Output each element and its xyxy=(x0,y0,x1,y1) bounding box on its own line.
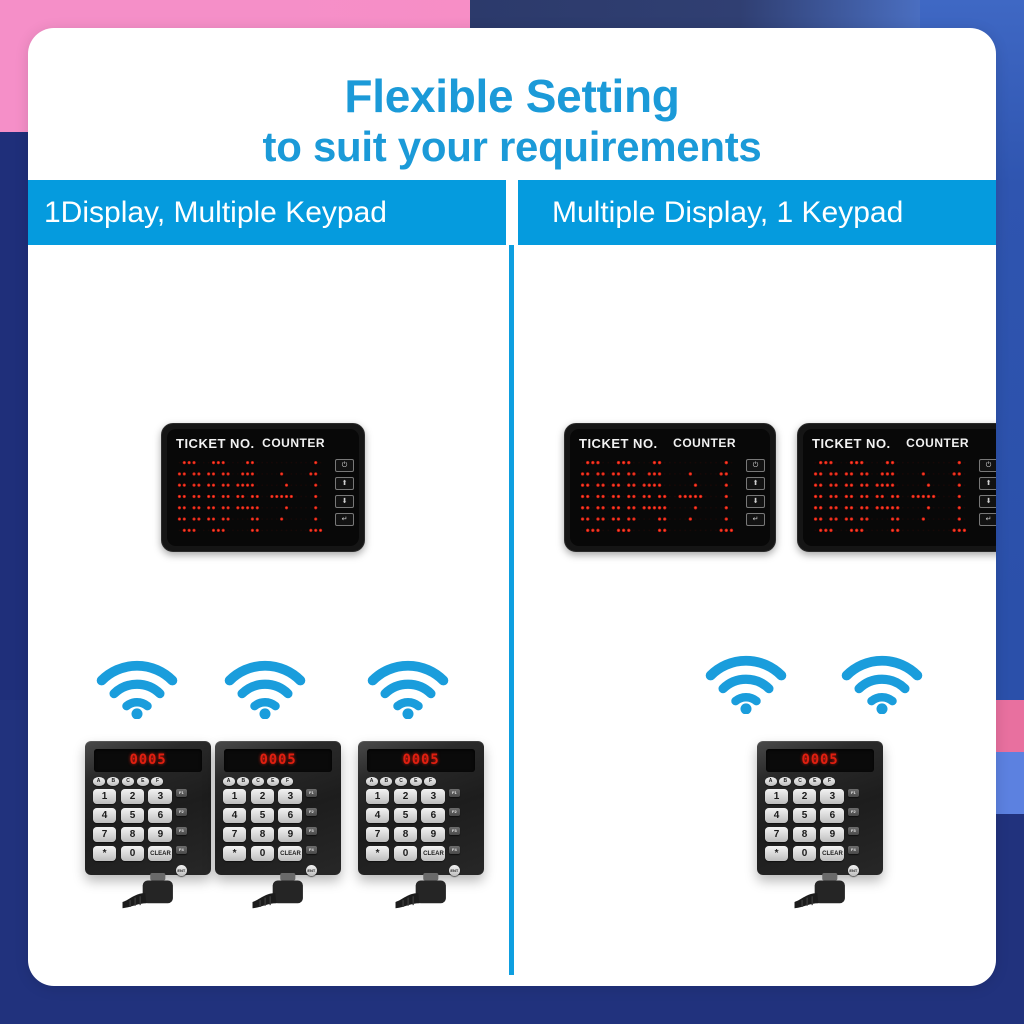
keypad-number-pad: 123456789*0CLEAR xyxy=(765,789,845,876)
key-3[interactable]: 3 xyxy=(421,789,445,805)
keypad-led-screen: 0005 xyxy=(224,749,332,772)
down-icon[interactable]: ⬇ xyxy=(979,495,996,508)
keypad-body: 0005ABCEF123456789*0CLEARF1F2F3F4ENT xyxy=(358,741,484,875)
key-f2[interactable]: F2 xyxy=(306,808,317,816)
key-f4[interactable]: F4 xyxy=(176,846,187,854)
key-7[interactable]: 7 xyxy=(366,827,390,843)
keypad-number-pad: 123456789*0CLEAR xyxy=(93,789,173,876)
key-clear[interactable]: CLEAR xyxy=(148,846,172,862)
keypad-unit: 0005ABCEF123456789*0CLEARF1F2F3F4ENT xyxy=(757,741,883,912)
enter-icon[interactable]: ↵ xyxy=(746,513,765,526)
page-title: Flexible Setting to suit your requiremen… xyxy=(28,28,996,169)
key-b[interactable]: B xyxy=(107,777,119,786)
ticket-no-label: TICKET NO. xyxy=(812,436,891,451)
key-1[interactable]: 1 xyxy=(93,789,117,805)
key-6[interactable]: 6 xyxy=(148,808,172,824)
key-c[interactable]: C xyxy=(395,777,407,786)
title-line-2: to suit your requirements xyxy=(28,125,996,170)
ticket-no-label: TICKET NO. xyxy=(176,436,255,451)
keypad-unit: 0005ABCEF123456789*0CLEARF1F2F3F4ENT xyxy=(215,741,341,912)
display-labels: TICKET NO.COUNTER xyxy=(167,434,359,452)
key-2[interactable]: 2 xyxy=(121,789,145,805)
key-1[interactable]: 1 xyxy=(765,789,789,805)
keypad-row: 456 xyxy=(93,808,173,824)
keypad-letter-row: ABCEF xyxy=(765,777,878,786)
key-8[interactable]: 8 xyxy=(394,827,418,843)
key-f4[interactable]: F4 xyxy=(306,846,317,854)
content-card: Flexible Setting to suit your requiremen… xyxy=(28,28,996,986)
keypad-main-grid: 123456789*0CLEARF1F2F3F4ENT xyxy=(765,789,878,876)
key-5[interactable]: 5 xyxy=(121,808,145,824)
key-2[interactable]: 2 xyxy=(394,789,418,805)
key-star[interactable]: * xyxy=(765,846,789,862)
key-4[interactable]: 4 xyxy=(223,808,247,824)
led-matrix-canvas xyxy=(813,457,967,536)
keypad-unit: 0005ABCEF123456789*0CLEARF1F2F3F4ENT xyxy=(358,741,484,912)
display-screen: TICKET NO.COUNTER⏻⬆⬇↵ xyxy=(167,429,359,546)
key-1[interactable]: 1 xyxy=(366,789,390,805)
key-0[interactable]: 0 xyxy=(793,846,817,862)
key-a[interactable]: A xyxy=(223,777,235,786)
power-icon[interactable]: ⏻ xyxy=(746,459,765,472)
key-f[interactable]: F xyxy=(424,777,436,786)
keypad-row: 123 xyxy=(93,789,173,805)
keypad-unit: 0005ABCEF123456789*0CLEARF1F2F3F4ENT xyxy=(85,741,211,912)
keypad-main-grid: 123456789*0CLEARF1F2F3F4ENT xyxy=(223,789,336,876)
keypad-letter-row: ABCEF xyxy=(223,777,336,786)
keypad-letter-row: ABCEF xyxy=(366,777,479,786)
key-a[interactable]: A xyxy=(765,777,777,786)
keypad-led-screen: 0005 xyxy=(766,749,874,772)
keypad-main-grid: 123456789*0CLEARF1F2F3F4ENT xyxy=(93,789,206,876)
power-icon[interactable]: ⏻ xyxy=(979,459,996,472)
keypad-row: 123 xyxy=(366,789,446,805)
key-8[interactable]: 8 xyxy=(121,827,145,843)
key-4[interactable]: 4 xyxy=(93,808,117,824)
key-3[interactable]: 3 xyxy=(820,789,844,805)
key-6[interactable]: 6 xyxy=(421,808,445,824)
section-header-right: Multiple Display, 1 Keypad xyxy=(518,180,996,245)
key-clear[interactable]: CLEAR xyxy=(278,846,302,862)
ticket-no-label: TICKET NO. xyxy=(579,436,658,451)
key-6[interactable]: 6 xyxy=(278,808,302,824)
key-f3[interactable]: F3 xyxy=(449,827,460,835)
key-e[interactable]: E xyxy=(267,777,279,786)
section-header-left: 1Display, Multiple Keypad xyxy=(28,180,506,245)
key-e[interactable]: E xyxy=(809,777,821,786)
key-5[interactable]: 5 xyxy=(251,808,275,824)
display-labels: TICKET NO.COUNTER xyxy=(803,434,996,452)
key-2[interactable]: 2 xyxy=(251,789,275,805)
key-c[interactable]: C xyxy=(794,777,806,786)
key-9[interactable]: 9 xyxy=(421,827,445,843)
keypad-row: 123 xyxy=(223,789,303,805)
key-5[interactable]: 5 xyxy=(793,808,817,824)
key-5[interactable]: 5 xyxy=(394,808,418,824)
key-7[interactable]: 7 xyxy=(765,827,789,843)
key-f[interactable]: F xyxy=(281,777,293,786)
keypad-body: 0005ABCEF123456789*0CLEARF1F2F3F4ENT xyxy=(85,741,211,875)
key-3[interactable]: 3 xyxy=(148,789,172,805)
keypad-led-value: 0005 xyxy=(129,752,166,768)
key-f[interactable]: F xyxy=(823,777,835,786)
enter-icon[interactable]: ↵ xyxy=(335,513,354,526)
keypad-led-screen: 0005 xyxy=(367,749,475,772)
key-f1[interactable]: F1 xyxy=(449,789,460,797)
display-side-buttons: ⏻⬆⬇↵ xyxy=(746,459,765,526)
ticket-display-unit: TICKET NO.COUNTER⏻⬆⬇↵ xyxy=(161,423,365,552)
power-cable xyxy=(250,873,328,916)
up-icon[interactable]: ⬆ xyxy=(979,477,996,490)
keypad-letter-row: ABCEF xyxy=(93,777,206,786)
key-9[interactable]: 9 xyxy=(278,827,302,843)
wifi-icon xyxy=(366,653,450,719)
key-f1[interactable]: F1 xyxy=(306,789,317,797)
key-f3[interactable]: F3 xyxy=(848,827,859,835)
key-a[interactable]: A xyxy=(93,777,105,786)
keypad-keys: ABCEF123456789*0CLEARF1F2F3F4ENT xyxy=(765,777,878,868)
key-f2[interactable]: F2 xyxy=(848,808,859,816)
key-c[interactable]: C xyxy=(122,777,134,786)
key-f4[interactable]: F4 xyxy=(848,846,859,854)
keypad-number-pad: 123456789*0CLEAR xyxy=(366,789,446,876)
key-e[interactable]: E xyxy=(137,777,149,786)
key-f[interactable]: F xyxy=(151,777,163,786)
keypad-row: 789 xyxy=(223,827,303,843)
led-matrix-readout xyxy=(813,457,967,536)
led-matrix-canvas xyxy=(580,457,734,536)
keypad-row: *0CLEAR xyxy=(366,846,446,862)
keypad-function-column: F1F2F3F4ENT xyxy=(306,789,317,876)
power-cable xyxy=(792,873,870,916)
key-clear[interactable]: CLEAR xyxy=(820,846,844,862)
keypad-keys: ABCEF123456789*0CLEARF1F2F3F4ENT xyxy=(223,777,336,868)
key-4[interactable]: 4 xyxy=(366,808,390,824)
key-f1[interactable]: F1 xyxy=(848,789,859,797)
key-7[interactable]: 7 xyxy=(93,827,117,843)
key-star[interactable]: * xyxy=(223,846,247,862)
led-matrix-readout xyxy=(177,457,323,536)
down-icon[interactable]: ⬇ xyxy=(746,495,765,508)
wifi-icon xyxy=(223,653,307,719)
display-side-buttons: ⏻⬆⬇↵ xyxy=(335,459,354,526)
counter-label: COUNTER xyxy=(262,436,325,450)
key-f2[interactable]: F2 xyxy=(176,808,187,816)
ticket-display-unit: TICKET NO.COUNTER⏻⬆⬇↵ xyxy=(564,423,776,552)
key-c[interactable]: C xyxy=(252,777,264,786)
display-screen: TICKET NO.COUNTER⏻⬆⬇↵ xyxy=(570,429,770,546)
key-8[interactable]: 8 xyxy=(251,827,275,843)
keypad-row: *0CLEAR xyxy=(223,846,303,862)
title-line-1: Flexible Setting xyxy=(28,72,996,121)
counter-label: COUNTER xyxy=(906,436,969,450)
key-0[interactable]: 0 xyxy=(251,846,275,862)
keypad-led-value: 0005 xyxy=(259,752,296,768)
key-clear[interactable]: CLEAR xyxy=(421,846,445,862)
keypad-body: 0005ABCEF123456789*0CLEARF1F2F3F4ENT xyxy=(215,741,341,875)
keypad-row: 789 xyxy=(366,827,446,843)
ticket-display-unit: TICKET NO.COUNTER⏻⬆⬇↵ xyxy=(797,423,996,552)
key-0[interactable]: 0 xyxy=(394,846,418,862)
key-3[interactable]: 3 xyxy=(278,789,302,805)
keypad-function-column: F1F2F3F4ENT xyxy=(848,789,859,876)
keypad-keys: ABCEF123456789*0CLEARF1F2F3F4ENT xyxy=(93,777,206,868)
power-cable xyxy=(393,873,471,916)
display-side-buttons: ⏻⬆⬇↵ xyxy=(979,459,996,526)
key-6[interactable]: 6 xyxy=(820,808,844,824)
display-screen: TICKET NO.COUNTER⏻⬆⬇↵ xyxy=(803,429,996,546)
keypad-row: *0CLEAR xyxy=(765,846,845,862)
keypad-row: 456 xyxy=(765,808,845,824)
keypad-led-value: 0005 xyxy=(801,752,838,768)
keypad-led-screen: 0005 xyxy=(94,749,202,772)
counter-label: COUNTER xyxy=(673,436,736,450)
wifi-icon xyxy=(840,648,924,714)
key-7[interactable]: 7 xyxy=(223,827,247,843)
key-9[interactable]: 9 xyxy=(820,827,844,843)
keypad-led-value: 0005 xyxy=(402,752,439,768)
key-e[interactable]: E xyxy=(410,777,422,786)
keypad-body: 0005ABCEF123456789*0CLEARF1F2F3F4ENT xyxy=(757,741,883,875)
up-icon[interactable]: ⬆ xyxy=(746,477,765,490)
section-header-right-label: Multiple Display, 1 Keypad xyxy=(518,196,903,230)
keypad-row: 789 xyxy=(765,827,845,843)
keypad-row: 123 xyxy=(765,789,845,805)
key-2[interactable]: 2 xyxy=(793,789,817,805)
key-1[interactable]: 1 xyxy=(223,789,247,805)
key-9[interactable]: 9 xyxy=(148,827,172,843)
keypad-function-column: F1F2F3F4ENT xyxy=(176,789,187,876)
key-4[interactable]: 4 xyxy=(765,808,789,824)
power-icon[interactable]: ⏻ xyxy=(335,459,354,472)
keypad-row: *0CLEAR xyxy=(93,846,173,862)
power-cable xyxy=(120,873,198,916)
key-f2[interactable]: F2 xyxy=(449,808,460,816)
enter-icon[interactable]: ↵ xyxy=(979,513,996,526)
key-a[interactable]: A xyxy=(366,777,378,786)
wifi-icon xyxy=(95,653,179,719)
key-8[interactable]: 8 xyxy=(793,827,817,843)
keypad-keys: ABCEF123456789*0CLEARF1F2F3F4ENT xyxy=(366,777,479,868)
panel-multiple-display-one-keypad: TICKET NO.COUNTER⏻⬆⬇↵TICKET NO.COUNTER⏻⬆… xyxy=(514,245,996,975)
keypad-row: 456 xyxy=(366,808,446,824)
keypad-main-grid: 123456789*0CLEARF1F2F3F4ENT xyxy=(366,789,479,876)
keypad-function-column: F1F2F3F4ENT xyxy=(449,789,460,876)
down-icon[interactable]: ⬇ xyxy=(335,495,354,508)
up-icon[interactable]: ⬆ xyxy=(335,477,354,490)
key-f3[interactable]: F3 xyxy=(306,827,317,835)
key-b[interactable]: B xyxy=(237,777,249,786)
wifi-icon xyxy=(704,648,788,714)
panel-one-display-multiple-keypad: TICKET NO.COUNTER⏻⬆⬇↵0005ABCEF123456789*… xyxy=(28,245,509,975)
keypad-number-pad: 123456789*0CLEAR xyxy=(223,789,303,876)
key-b[interactable]: B xyxy=(380,777,392,786)
display-labels: TICKET NO.COUNTER xyxy=(570,434,770,452)
key-f3[interactable]: F3 xyxy=(176,827,187,835)
key-star[interactable]: * xyxy=(93,846,117,862)
key-f4[interactable]: F4 xyxy=(449,846,460,854)
led-matrix-readout xyxy=(580,457,734,536)
header-band-gap xyxy=(506,180,518,245)
keypad-row: 456 xyxy=(223,808,303,824)
section-header-left-label: 1Display, Multiple Keypad xyxy=(28,196,387,230)
led-matrix-canvas xyxy=(177,457,323,536)
key-f1[interactable]: F1 xyxy=(176,789,187,797)
keypad-row: 789 xyxy=(93,827,173,843)
key-star[interactable]: * xyxy=(366,846,390,862)
key-0[interactable]: 0 xyxy=(121,846,145,862)
section-header-bands: 1Display, Multiple Keypad Multiple Displ… xyxy=(28,180,996,245)
key-b[interactable]: B xyxy=(779,777,791,786)
